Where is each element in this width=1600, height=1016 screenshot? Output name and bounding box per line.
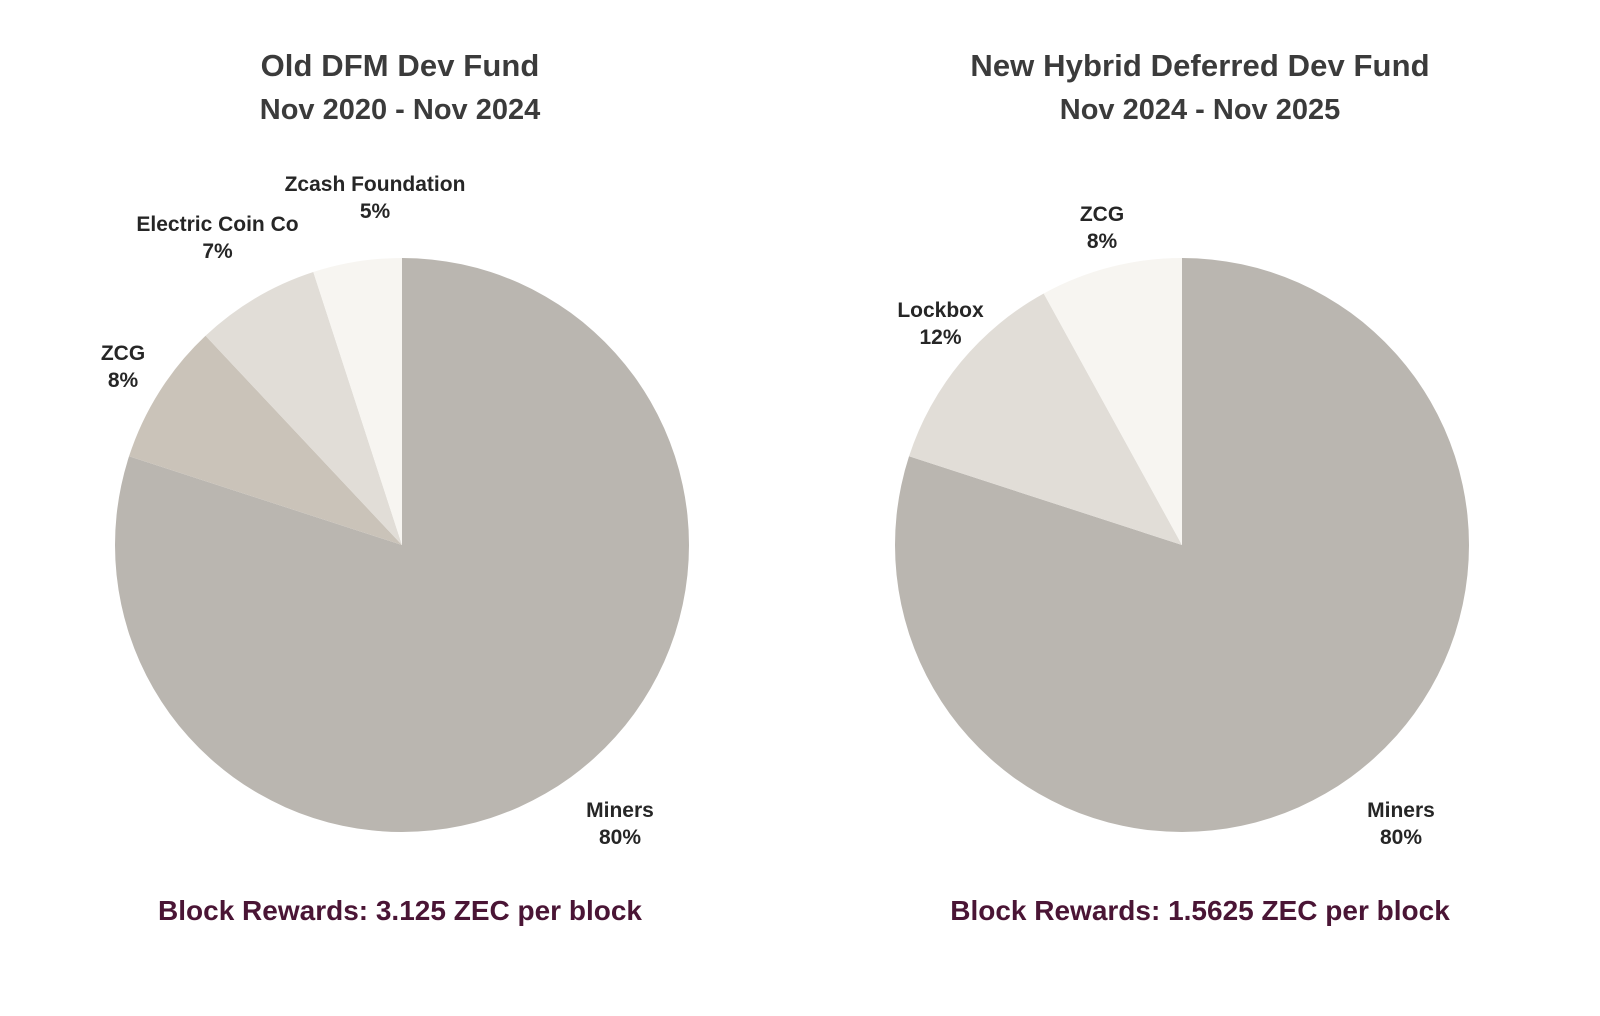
chart-caption-right: Block Rewards: 1.5625 ZEC per block: [800, 895, 1600, 927]
chart-title-left-subtitle: Nov 2020 - Nov 2024: [0, 96, 800, 125]
chart-caption-left: Block Rewards: 3.125 ZEC per block: [0, 895, 800, 927]
chart-title-right: New Hybrid Deferred Dev Fund Nov 2024 - …: [800, 50, 1600, 125]
dev-fund-comparison-figure: Old DFM Dev Fund Nov 2020 - Nov 2024 Blo…: [0, 0, 1600, 1016]
chart-title-right-main: New Hybrid Deferred Dev Fund: [800, 50, 1600, 81]
panel-old-dev-fund: Old DFM Dev Fund Nov 2020 - Nov 2024 Blo…: [0, 0, 800, 1016]
chart-title-right-subtitle: Nov 2024 - Nov 2025: [800, 96, 1600, 125]
chart-title-left: Old DFM Dev Fund Nov 2020 - Nov 2024: [0, 50, 800, 125]
chart-title-left-main: Old DFM Dev Fund: [0, 50, 800, 81]
panel-new-dev-fund: New Hybrid Deferred Dev Fund Nov 2024 - …: [800, 0, 1600, 1016]
